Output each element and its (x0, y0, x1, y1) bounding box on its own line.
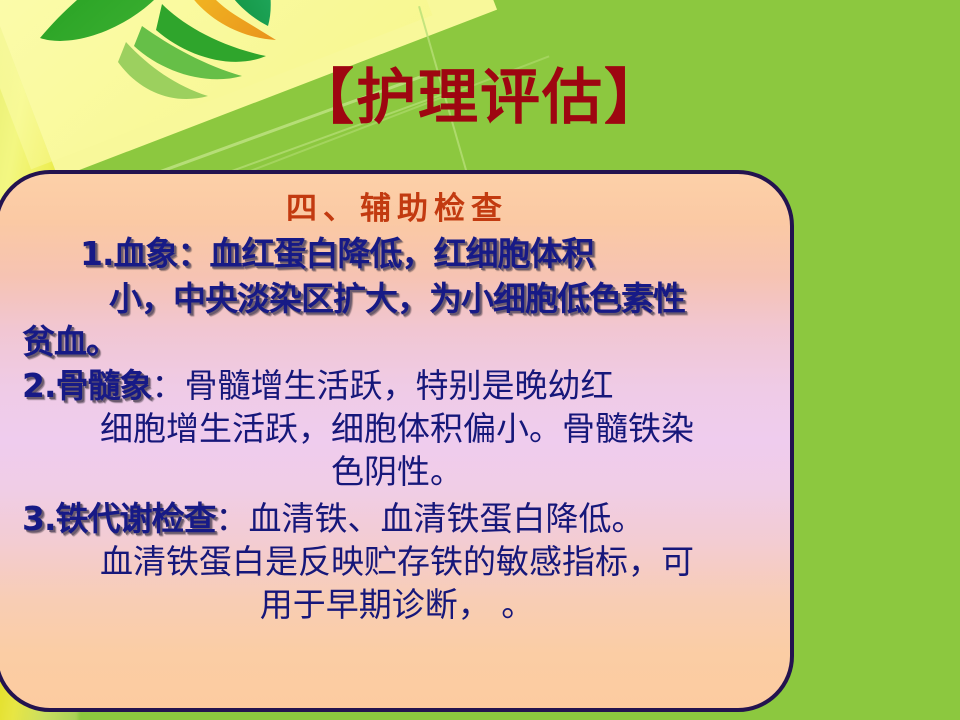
item-2-line-1: 骨髓增生活跃，特别是晚幼红 (185, 366, 614, 405)
item-1-separator: ： (178, 234, 210, 273)
item-1-line-2: 小，中央淡染区扩大，为小细胞低色素性 (109, 279, 685, 318)
item-2-separator: ： (152, 366, 185, 405)
item-3-line-3-row: 用于早期诊断， 。 (22, 584, 772, 627)
content-card: 四、辅助检查 1.血象：血红蛋白降低，红细胞体积 小，中央淡染区扩大，为小细胞低… (0, 170, 794, 712)
item-3-line-3: 用于早期诊断， 。 (260, 585, 535, 624)
item-2-number: 2. (22, 366, 56, 405)
slide-canvas: 【护理评估】 四、辅助检查 1.血象：血红蛋白降低，红细胞体积 小，中央淡染区扩… (0, 0, 960, 720)
item-2-line-3-row: 色阴性。 (22, 451, 772, 494)
item-3-line-2: 血清铁蛋白是反映贮存铁的敏感指标，可 (100, 542, 694, 581)
item-1-line-2-row: 小，中央淡染区扩大，为小细胞低色素性 (22, 278, 772, 321)
item-1-line-3: 贫血。 (22, 322, 118, 361)
item-1-label: 血象 (114, 234, 178, 273)
item-2-label: 骨髓象 (56, 366, 152, 405)
item-3-label: 铁代谢检查 (56, 499, 216, 538)
item-2-line-2: 细胞增生活跃，细胞体积偏小。骨髓铁染 (100, 409, 694, 448)
item-1-line-1: 血红蛋白降低，红细胞体积 (210, 234, 594, 273)
list-item-3: 3.铁代谢检查：血清铁、血清铁蛋白降低。 (22, 498, 772, 541)
item-3-number: 3. (22, 499, 56, 538)
list-item-2: 2.骨髓象：骨髓增生活跃，特别是晚幼红 (22, 365, 772, 408)
item-1-line-3-row: 贫血。 (22, 321, 772, 364)
item-3-line-1: 血清铁、血清铁蛋白降低。 (249, 499, 645, 538)
page-title: 【护理评估】 (0, 68, 960, 128)
item-3-separator: ： (216, 499, 249, 538)
item-2-line-2-row: 细胞增生活跃，细胞体积偏小。骨髓铁染 (22, 408, 772, 451)
list-item-1: 1.血象：血红蛋白降低，红细胞体积 (22, 233, 772, 276)
section-heading: 四、辅助检查 (22, 190, 772, 229)
item-1-number: 1. (80, 234, 114, 273)
item-2-line-3: 色阴性。 (331, 452, 463, 491)
body-content: 1.血象：血红蛋白降低，红细胞体积 小，中央淡染区扩大，为小细胞低色素性 贫血。… (22, 233, 772, 627)
item-3-line-2-row: 血清铁蛋白是反映贮存铁的敏感指标，可 (22, 541, 772, 584)
